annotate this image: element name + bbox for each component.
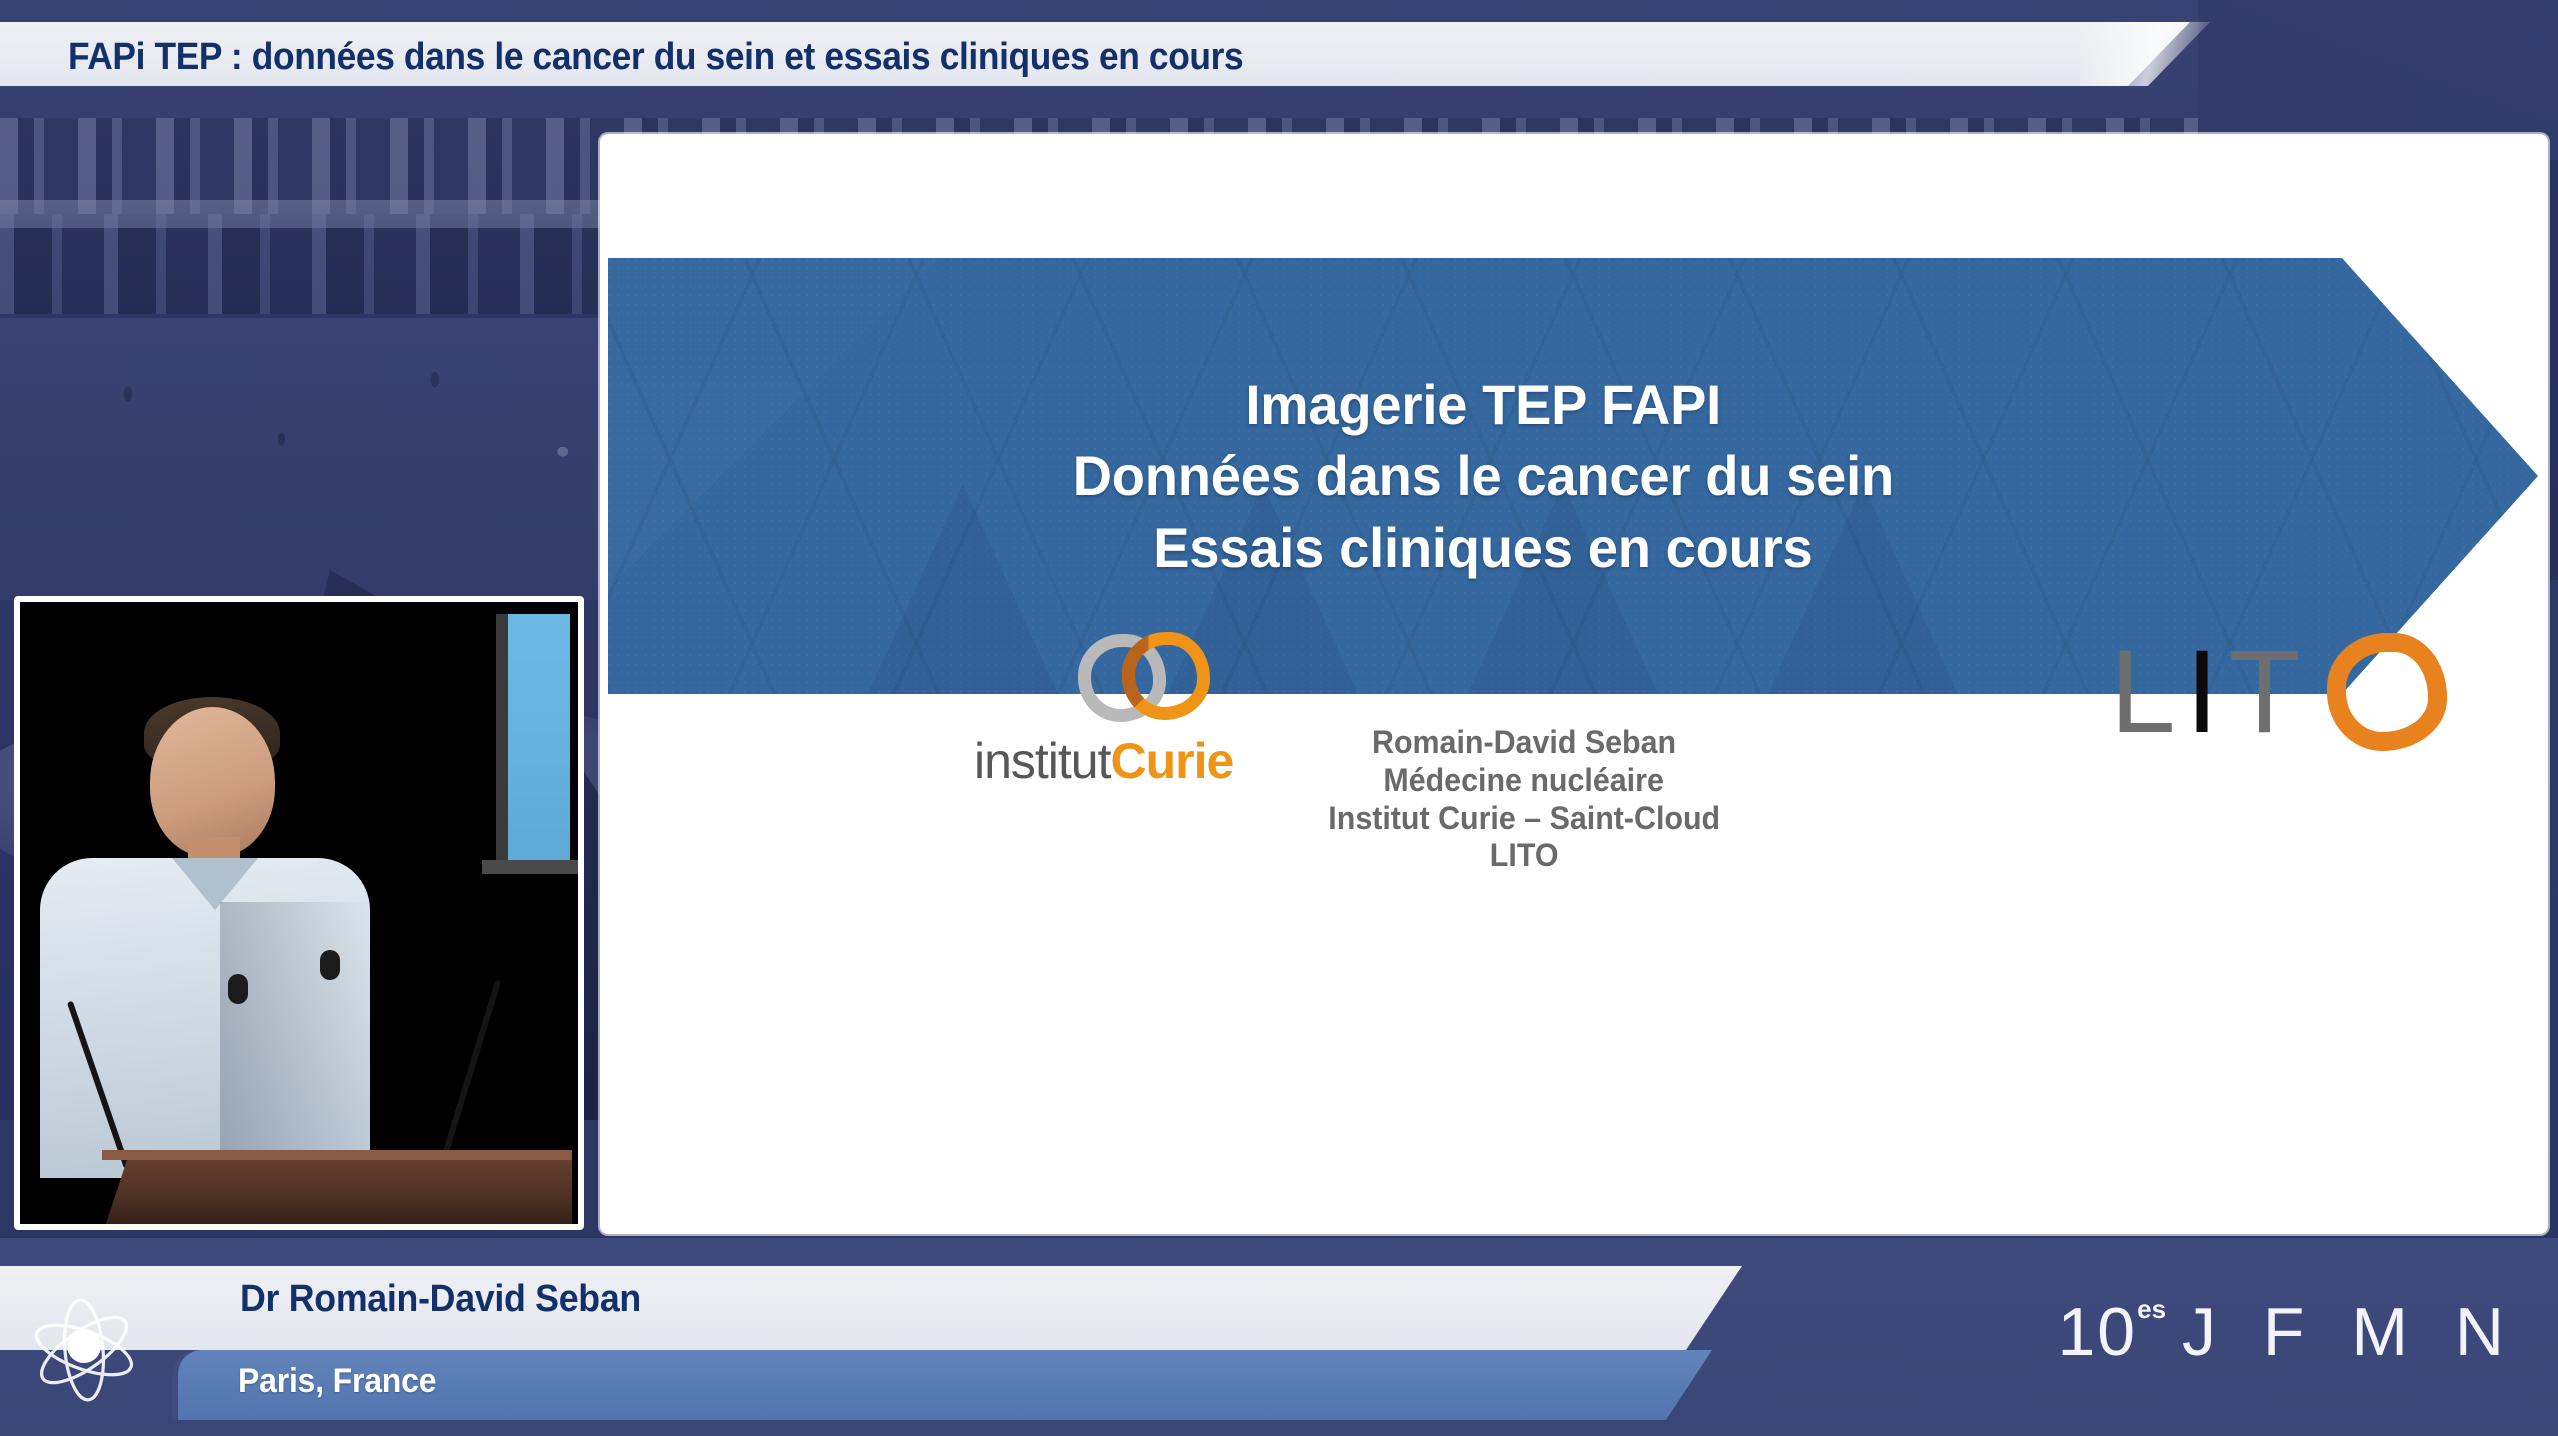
video-podium [102, 1150, 572, 1230]
slide-title-line-1: Imagerie TEP FAPI [1245, 372, 1721, 438]
curie-word-curie: Curie [1111, 733, 1234, 789]
lito-orange-ring-icon [2327, 633, 2447, 751]
institut-curie-logo: institutCurie [968, 632, 1218, 802]
video-projector-frame-bottom [482, 860, 578, 874]
speaker-info-line-3: Institut Curie – Saint-Cloud [1328, 800, 1720, 838]
video-podium-top [102, 1150, 572, 1160]
speaker-info-line-1: Romain-David Seban [1372, 724, 1676, 762]
speaker-video-thumbnail[interactable] [14, 596, 584, 1230]
video-speaker-head [150, 707, 275, 857]
slide-title-line-3: Essais cliniques en cours [1153, 515, 1812, 581]
jfmn-number: 10 [2057, 1298, 2137, 1366]
video-speaker-shadow [220, 902, 370, 1172]
lito-letter-i: I [2186, 633, 2229, 751]
atom-icon [24, 1292, 144, 1408]
page-title: FAPi TEP : données dans le cancer du sei… [68, 36, 1243, 79]
lito-letter-l: L [2110, 633, 2186, 751]
curie-rings-icon [1078, 632, 1208, 724]
jfmn-suffix: es [2137, 1296, 2166, 1322]
presentation-viewer: FAPi TEP : données dans le cancer du sei… [0, 0, 2558, 1436]
lito-logo: L I T [2110, 622, 2510, 762]
video-projector-screen [508, 614, 570, 864]
microphone-stem-right-icon [438, 980, 501, 1169]
footer-speaker-name: Dr Romain-David Seban [240, 1278, 641, 1321]
slide-title-line-2: Données dans le cancer du sein [1072, 443, 1893, 509]
microphone-head-left-icon [228, 974, 248, 1004]
footer-speaker-city: Paris, France [238, 1362, 436, 1401]
microphone-head-right-icon [320, 950, 340, 980]
jfmn-event-logo: 10 es J F M N [2057, 1298, 2518, 1376]
speaker-info-line-2: Médecine nucléaire [1384, 762, 1664, 800]
curie-wordmark: institutCurie [974, 736, 1233, 786]
curie-word-institut: institut [974, 733, 1111, 789]
lito-letter-t: T [2228, 633, 2310, 751]
banner-title-text: Imagerie TEP FAPI Données dans le cancer… [608, 258, 2358, 694]
jfmn-acronym: J F M N [2182, 1298, 2518, 1366]
speaker-info-line-4: LITO [1490, 837, 1559, 875]
slide-card: Imagerie TEP FAPI Données dans le cancer… [600, 134, 2548, 1234]
video-projector-frame-left [496, 614, 508, 874]
